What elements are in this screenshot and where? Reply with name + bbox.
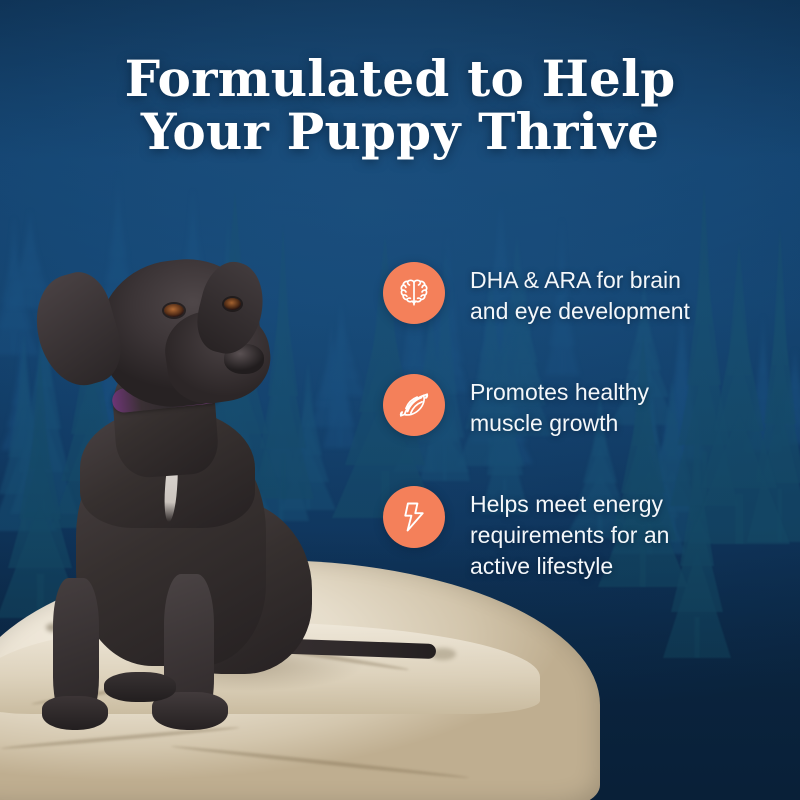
feature-list: DHA & ARA for brain and eye development xyxy=(383,262,723,582)
muscle-icon-badge xyxy=(383,374,445,436)
feature-brain-line-1: DHA & ARA for brain xyxy=(470,265,690,296)
feature-energy-line-2: requirements for an xyxy=(470,520,669,551)
feature-item-energy: Helps meet energy requirements for an ac… xyxy=(383,486,723,582)
lightning-bolt-icon xyxy=(394,497,434,537)
feature-text-energy: Helps meet energy requirements for an ac… xyxy=(470,486,669,582)
feature-muscle-line-1: Promotes healthy xyxy=(470,377,649,408)
lightning-bolt-icon-badge xyxy=(383,486,445,548)
marketing-image: Formulated to Help Your Puppy Thrive xyxy=(0,0,800,800)
feature-text-muscle: Promotes healthy muscle growth xyxy=(470,374,649,439)
feature-text-brain: DHA & ARA for brain and eye development xyxy=(470,262,690,327)
feature-muscle-line-2: muscle growth xyxy=(470,408,649,439)
headline-line-2: Your Puppy Thrive xyxy=(0,105,800,158)
dog-eye-left xyxy=(164,304,184,317)
dog-paw-left xyxy=(42,696,108,730)
dog-eye-right xyxy=(224,298,241,310)
headline: Formulated to Help Your Puppy Thrive xyxy=(0,52,800,158)
headline-line-1: Formulated to Help xyxy=(0,52,800,105)
feature-item-muscle: Promotes healthy muscle growth xyxy=(383,374,723,439)
feature-brain-line-2: and eye development xyxy=(470,296,690,327)
brain-icon xyxy=(394,273,434,313)
feature-energy-line-1: Helps meet energy xyxy=(470,489,669,520)
muscle-icon xyxy=(394,385,434,425)
brain-icon-badge xyxy=(383,262,445,324)
dog-rear-paw xyxy=(104,672,176,702)
feature-item-brain: DHA & ARA for brain and eye development xyxy=(383,262,723,327)
feature-energy-line-3: active lifestyle xyxy=(470,551,669,582)
